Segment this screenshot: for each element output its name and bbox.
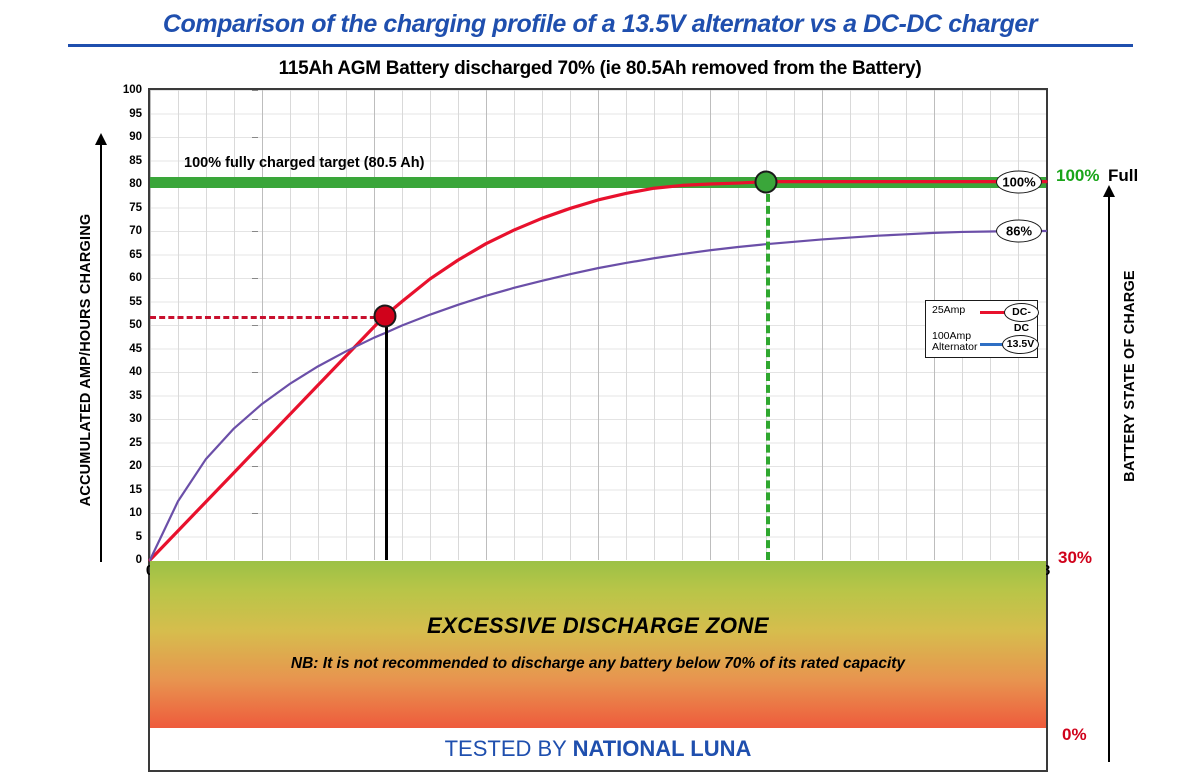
y-tick-label: 35	[108, 390, 142, 402]
y-axis-left-ticks: 0510152025303540455055606570758085909510…	[108, 84, 142, 566]
y-tick-label: 10	[108, 507, 142, 519]
y-tick-label: 55	[108, 296, 142, 308]
y-tick-label: 65	[108, 249, 142, 261]
alternator-end-callout: 86%	[996, 220, 1042, 243]
footer: TESTED BY NATIONAL LUNA	[150, 728, 1046, 770]
footer-prefix: TESTED BY	[445, 736, 573, 761]
y-axis-right-arrow-icon	[1108, 196, 1110, 762]
full-charge-vertical-line	[766, 182, 770, 560]
footer-text: TESTED BY NATIONAL LUNA	[445, 736, 752, 762]
y-tick-label: 45	[108, 343, 142, 355]
y-tick-label: 60	[108, 272, 142, 284]
right-scale-label-30pct: 30%	[1058, 548, 1092, 568]
legend-badge-alternator: 13.5V	[1002, 335, 1039, 354]
y-tick-label: 95	[108, 108, 142, 120]
chart-legend[interactable]: 25Amp DC-DC 100Amp Alternator 13.5V	[925, 300, 1038, 358]
y-tick-label: 75	[108, 202, 142, 214]
title-underline	[68, 44, 1133, 47]
right-scale-label-100pct: 100%	[1056, 166, 1099, 186]
discharge-zone-note: NB: It is not recommended to discharge a…	[150, 655, 1046, 673]
legend-row-alternator[interactable]: 100Amp Alternator 13.5V	[926, 331, 1039, 357]
y-tick-label: 25	[108, 437, 142, 449]
footer-brand: NATIONAL LUNA	[573, 736, 752, 761]
y-tick-label: 70	[108, 225, 142, 237]
chart-curves	[150, 90, 1046, 560]
page-subtitle: 115Ah AGM Battery discharged 70% (ie 80.…	[0, 58, 1200, 80]
discharge-zone-title: EXCESSIVE DISCHARGE ZONE	[150, 613, 1046, 639]
legend-row-dcdc[interactable]: 25Amp DC-DC	[926, 305, 1039, 331]
y-axis-left-title: ACCUMULATED AMP/HOURS CHARGING	[78, 170, 94, 550]
y-tick-label: 20	[108, 460, 142, 472]
y-tick-label: 5	[108, 531, 142, 543]
y-tick-label: 90	[108, 131, 142, 143]
crossover-guide-line	[150, 316, 385, 319]
y-tick-label: 0	[108, 554, 142, 566]
series-line-dcdc	[150, 182, 1046, 560]
excessive-discharge-zone: EXCESSIVE DISCHARGE ZONE NB: It is not r…	[150, 561, 1046, 728]
y-axis-left-arrow-icon	[100, 144, 102, 562]
right-scale-label-full: Full	[1108, 166, 1138, 186]
legend-badge-dcdc: DC-DC	[1004, 303, 1039, 322]
full-charge-marker	[755, 170, 778, 193]
series-line-alternator	[150, 231, 1046, 560]
y-tick-label: 40	[108, 366, 142, 378]
y-axis-right-title: BATTERY STATE OF CHARGE	[1122, 186, 1138, 566]
right-scale-label-0pct: 0%	[1062, 725, 1087, 745]
page-title: Comparison of the charging profile of a …	[0, 10, 1200, 39]
y-tick-label: 85	[108, 155, 142, 167]
legend-label-alternator-line2: Alternator	[932, 342, 978, 353]
y-tick-label: 100	[108, 84, 142, 96]
y-tick-label: 30	[108, 413, 142, 425]
y-tick-label: 15	[108, 484, 142, 496]
crossover-marker	[374, 304, 397, 327]
dcdc-end-callout: 100%	[996, 170, 1042, 193]
y-tick-label: 50	[108, 319, 142, 331]
legend-label-dcdc: 25Amp	[932, 305, 965, 316]
crossover-vertical-line	[385, 316, 388, 560]
y-tick-label: 80	[108, 178, 142, 190]
